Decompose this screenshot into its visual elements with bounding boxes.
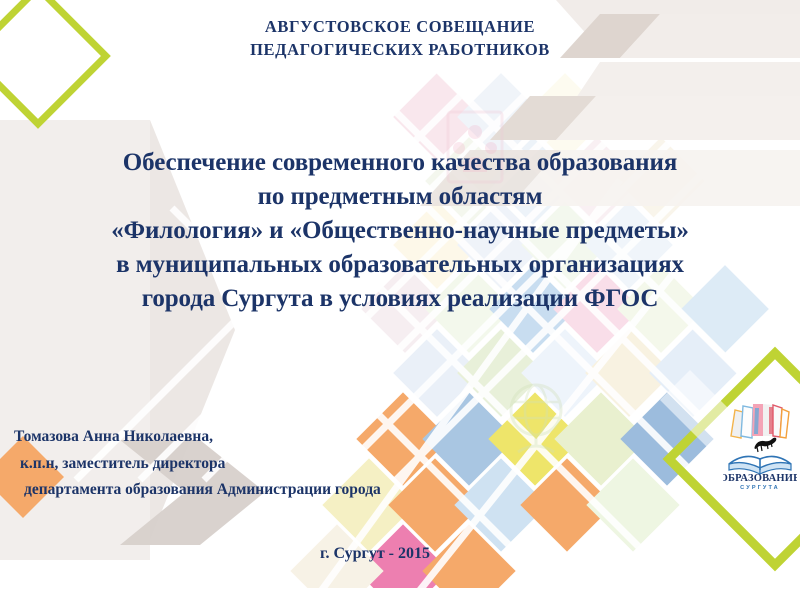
title-line-1: Обеспечение современного качества образо… xyxy=(0,146,800,180)
open-book-icon xyxy=(729,456,791,474)
logo-books-icon xyxy=(731,404,789,438)
place-and-year: г. Сургут - 2015 xyxy=(0,545,430,563)
title-line-3: «Филология» и «Общественно-научные предм… xyxy=(0,214,800,248)
header-line-2: ПЕДАГОГИЧЕСКИХ РАБОТНИКОВ xyxy=(250,39,550,62)
title-line-2: по предметным областям xyxy=(0,180,800,214)
presentation-title-slide: АВГУСТОВСКОЕ СОВЕЩАНИЕ ПЕДАГОГИЧЕСКИХ РА… xyxy=(0,0,800,600)
logo-subtitle: СУРГУТА xyxy=(740,485,780,491)
author-name: Томазова Анна Николаевна, xyxy=(14,424,381,451)
globe-watermark-icon xyxy=(511,385,561,452)
slide-header: АВГУСТОВСКОЕ СОВЕЩАНИЕ ПЕДАГОГИЧЕСКИХ РА… xyxy=(0,0,800,92)
diamond-grid-separators xyxy=(76,60,800,600)
green-corner-chevron xyxy=(778,530,800,596)
logo-title: ОБРАЗОВАНИЕ xyxy=(723,473,797,484)
sable-silhouette-icon xyxy=(755,438,777,452)
obrazovanie-surguta-logo: ОБРАЗОВАНИЕ СУРГУТА xyxy=(723,396,797,492)
title-line-4: в муниципальных образовательных организа… xyxy=(0,248,800,282)
author-block: Томазова Анна Николаевна, к.п.н, замести… xyxy=(14,424,381,504)
slide-title: Обеспечение современного качества образо… xyxy=(0,146,800,316)
header-line-1: АВГУСТОВСКОЕ СОВЕЩАНИЕ xyxy=(265,16,535,39)
title-line-5: города Сургута в условиях реализации ФГО… xyxy=(0,282,800,316)
author-position-line-2: департамента образования Администрации г… xyxy=(14,477,381,504)
author-position-line-1: к.п.н, заместитель директора xyxy=(14,451,381,478)
